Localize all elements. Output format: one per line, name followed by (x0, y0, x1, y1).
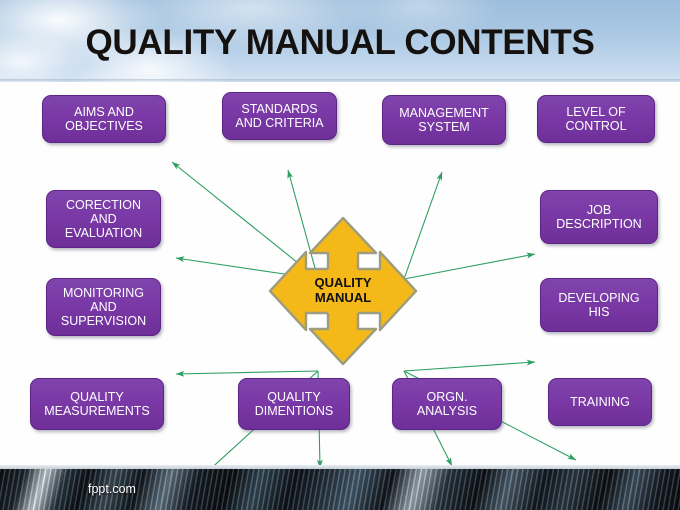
four-way-arrow-icon (268, 216, 418, 366)
watermark-label: fppt.com (88, 482, 136, 496)
node-quality-measurements[interactable]: QUALITYMEASUREMENTS (30, 378, 164, 430)
node-label-line: LEVEL OF (565, 105, 626, 119)
node-label-line: ORGN. (417, 390, 477, 404)
slide-canvas: QUALITY MANUAL CONTENTS QUALITY MANUAL A… (0, 0, 680, 510)
connector-job-description (404, 254, 535, 279)
node-label-line: AIMS AND (65, 105, 143, 119)
node-management-system[interactable]: MANAGEMENTSYSTEM (382, 95, 506, 145)
node-job-description[interactable]: JOBDESCRIPTION (540, 190, 658, 244)
node-developing-his[interactable]: DEVELOPINGHIS (540, 278, 658, 332)
node-monitoring-and-supervision[interactable]: MONITORINGANDSUPERVISION (46, 278, 161, 336)
node-label-line: DEVELOPING (558, 291, 639, 305)
node-label-line: AND CRITERIA (235, 116, 323, 130)
node-level-of-control[interactable]: LEVEL OFCONTROL (537, 95, 655, 143)
node-label-line: JOB (556, 203, 641, 217)
node-label-line: ANALYSIS (417, 404, 477, 418)
node-label-line: EVALUATION (65, 226, 142, 240)
node-aims-and-objectives[interactable]: AIMS ANDOBJECTIVES (42, 95, 166, 143)
node-quality-dimentions[interactable]: QUALITYDIMENTIONS (238, 378, 350, 430)
connector-developing-his (404, 362, 535, 371)
node-training[interactable]: TRAINING (548, 378, 652, 426)
node-label-line: QUALITY (44, 390, 150, 404)
node-label-line: QUALITY (255, 390, 333, 404)
node-label-line: OBJECTIVES (65, 119, 143, 133)
node-label-line: DIMENTIONS (255, 404, 333, 418)
page-title: QUALITY MANUAL CONTENTS (0, 23, 680, 63)
slide-header-banner: QUALITY MANUAL CONTENTS (0, 0, 680, 82)
node-standards-and-criteria[interactable]: STANDARDSAND CRITERIA (222, 92, 337, 140)
node-corection-and-evaluation[interactable]: CORECTIONANDEVALUATION (46, 190, 161, 248)
connector-monitoring-and-supervision (176, 371, 318, 374)
node-label-line: AND (65, 212, 142, 226)
slide-footer-image: fppt.com (0, 465, 680, 510)
diagram-area: QUALITY MANUAL AIMS ANDOBJECTIVESSTANDAR… (0, 82, 680, 465)
node-label-line: SUPERVISION (61, 314, 146, 328)
node-orgn-analysis[interactable]: ORGN.ANALYSIS (392, 378, 502, 430)
node-label-line: CONTROL (565, 119, 626, 133)
node-label-line: TRAINING (570, 395, 630, 409)
footer-divider (0, 465, 680, 469)
node-label-line: MANAGEMENT (399, 106, 489, 120)
node-label-line: HIS (558, 305, 639, 319)
node-label-line: MONITORING (61, 286, 146, 300)
node-label-line: DESCRIPTION (556, 217, 641, 231)
node-label-line: CORECTION (65, 198, 142, 212)
node-label-line: MEASUREMENTS (44, 404, 150, 418)
node-label-line: STANDARDS (235, 102, 323, 116)
node-label-line: SYSTEM (399, 120, 489, 134)
node-label-line: AND (61, 300, 146, 314)
